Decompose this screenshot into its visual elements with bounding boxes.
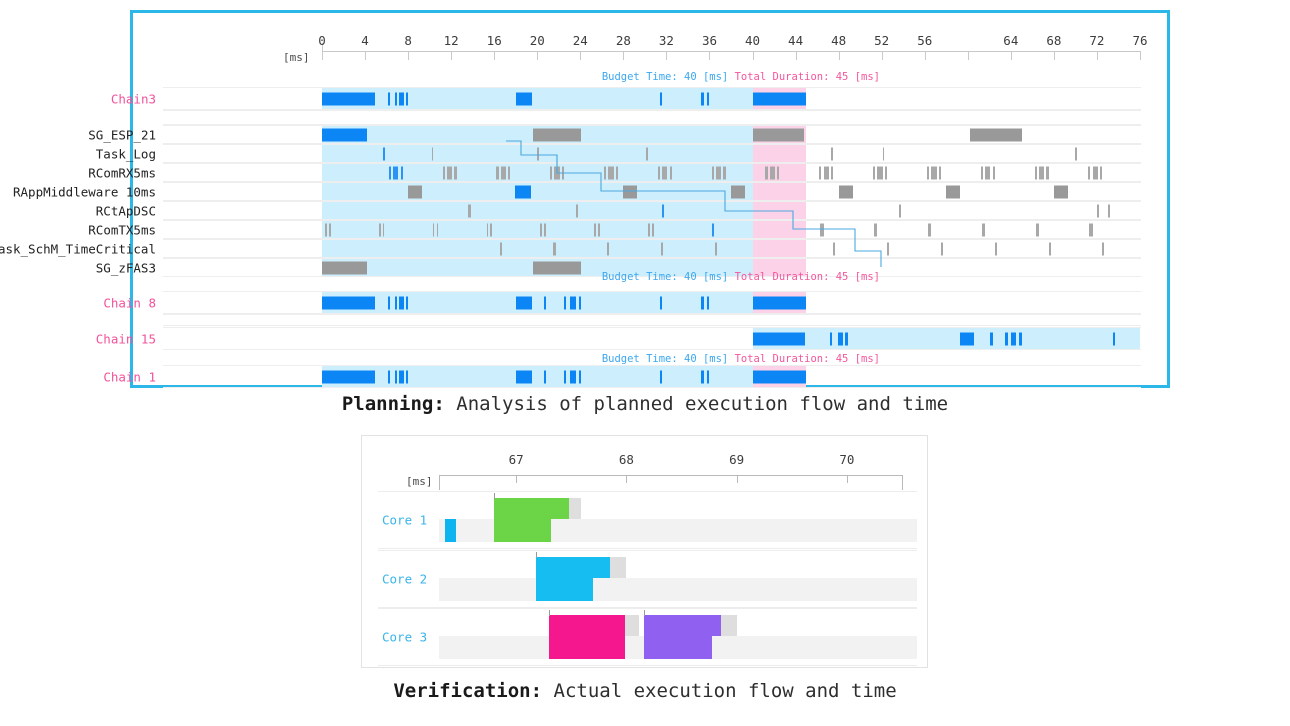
core-segment[interactable] — [569, 498, 582, 519]
planning-axis-tick-label: 28 — [616, 33, 631, 48]
gantt-bar[interactable] — [399, 92, 404, 105]
total-duration-label: Total Duration: 45 [ms] — [728, 353, 880, 365]
gantt-bar[interactable] — [490, 223, 492, 236]
screenshot-root: [ms] 04812162024283236404448525664687276… — [0, 0, 1290, 726]
planning-axis-tick-label: 64 — [1003, 33, 1018, 48]
planning-caption-bold: Planning: — [342, 393, 445, 415]
gantt-bar[interactable] — [604, 166, 606, 179]
verification-axis-line — [439, 475, 902, 476]
planning-axis-tick — [580, 51, 581, 60]
gantt-bar[interactable] — [533, 261, 581, 274]
gantt-bar[interactable] — [395, 92, 398, 105]
gantt-bar[interactable] — [576, 204, 578, 217]
task-row[interactable]: RCtApDSC — [163, 201, 1141, 220]
verification-axis-tick — [737, 475, 738, 483]
gantt-bar[interactable] — [1075, 147, 1077, 160]
gantt-bar[interactable] — [1113, 332, 1115, 345]
gantt-bar[interactable] — [833, 242, 835, 255]
gantt-bar[interactable] — [468, 204, 470, 217]
planning-axis-tick-label: 68 — [1046, 33, 1061, 48]
row-track — [322, 145, 1140, 162]
gantt-bar[interactable] — [544, 223, 546, 236]
core-planned-lane — [439, 615, 917, 636]
planning-axis-tick — [365, 51, 366, 60]
planning-time-axis: [ms] 04812162024283236404448525664687276 — [133, 13, 1167, 68]
chain-span-background — [322, 88, 753, 109]
gantt-bar[interactable] — [731, 185, 745, 198]
core-row[interactable]: Core 1 — [378, 491, 917, 549]
chain-row[interactable]: Chain3 — [163, 87, 1141, 110]
gantt-bar[interactable] — [877, 166, 882, 179]
planning-axis-tick — [666, 51, 667, 60]
gantt-bar[interactable] — [701, 296, 704, 309]
row-track — [322, 202, 1140, 219]
gantt-bar[interactable] — [887, 242, 889, 255]
task-row[interactable]: RComTX5ms — [163, 220, 1141, 239]
gantt-bar[interactable] — [927, 166, 929, 179]
gantt-bar[interactable] — [770, 166, 775, 179]
gantt-bar[interactable] — [939, 166, 941, 179]
gantt-bar[interactable] — [623, 185, 637, 198]
task-row-label: Task_SchM_TimeCritical — [0, 241, 163, 256]
core-segment[interactable] — [625, 615, 640, 636]
gantt-bar[interactable] — [723, 166, 725, 179]
segment-start-marker — [644, 610, 645, 616]
planning-axis-tick-label: 72 — [1089, 33, 1104, 48]
gantt-bar[interactable] — [432, 147, 434, 160]
gantt-bar[interactable] — [562, 166, 564, 179]
budget-time-label: Budget Time: 40 [ms] — [602, 271, 728, 283]
gantt-bar[interactable] — [873, 166, 875, 179]
gantt-bar[interactable] — [500, 242, 502, 255]
gantt-bar[interactable] — [579, 370, 581, 383]
verification-axis-tick-label: 69 — [729, 452, 744, 467]
gantt-bar[interactable] — [388, 92, 391, 105]
chain-span-background — [322, 202, 753, 219]
budget-annotation: Budget Time: 40 [ms] Total Duration: 45 … — [602, 71, 880, 83]
gantt-bar[interactable] — [982, 223, 985, 236]
gantt-bar[interactable] — [406, 92, 408, 105]
gantt-bar[interactable] — [701, 92, 704, 105]
gantt-bar[interactable] — [564, 370, 566, 383]
gantt-bar[interactable] — [533, 128, 581, 141]
row-track — [322, 292, 1140, 313]
gantt-bar[interactable] — [845, 332, 848, 345]
gantt-bar[interactable] — [399, 370, 404, 383]
gantt-bar[interactable] — [454, 166, 456, 179]
gantt-bar[interactable] — [995, 242, 997, 255]
planning-axis-tick-label: 32 — [659, 33, 674, 48]
gantt-bar[interactable] — [1036, 223, 1039, 236]
planning-axis-tick-label: 76 — [1132, 33, 1147, 48]
gantt-bar[interactable] — [516, 370, 532, 383]
total-duration-label: Total Duration: 45 [ms] — [728, 71, 880, 83]
gantt-bar[interactable] — [830, 332, 832, 345]
planning-axis-tick-label: 44 — [788, 33, 803, 48]
gantt-bar[interactable] — [1011, 332, 1016, 345]
gantt-bar[interactable] — [496, 166, 498, 179]
gantt-bar[interactable] — [662, 204, 664, 217]
gantt-bar[interactable] — [389, 166, 391, 179]
gantt-bar[interactable] — [322, 296, 375, 309]
gantt-bar[interactable] — [395, 370, 398, 383]
task-row[interactable]: RComRX5ms — [163, 163, 1141, 182]
verification-caption-text: Actual execution flow and time — [554, 680, 897, 702]
planning-axis-tick — [494, 51, 495, 60]
gantt-bar[interactable] — [831, 166, 833, 179]
gantt-bar[interactable] — [537, 147, 539, 160]
chain-span-background — [322, 292, 753, 313]
gantt-bar[interactable] — [433, 223, 435, 236]
segment-start-marker — [536, 552, 537, 558]
gantt-bar[interactable] — [1100, 166, 1102, 179]
gantt-bar[interactable] — [1054, 185, 1068, 198]
core-segment[interactable] — [445, 519, 456, 542]
gantt-bar[interactable] — [383, 223, 385, 236]
gantt-bar[interactable] — [707, 370, 709, 383]
gantt-bar[interactable] — [839, 185, 853, 198]
gantt-bar[interactable] — [322, 370, 375, 383]
gantt-bar[interactable] — [406, 296, 408, 309]
core-track — [439, 609, 917, 665]
task-row[interactable]: SG_ESP_21 — [163, 125, 1141, 144]
planning-caption: Planning: Analysis of planned execution … — [0, 393, 1290, 415]
gantt-bar[interactable] — [1005, 332, 1007, 345]
planning-axis-tick — [796, 51, 797, 60]
gantt-bar[interactable] — [928, 223, 931, 236]
planning-axis-tick-label: 8 — [404, 33, 412, 48]
core-actual-lane — [439, 519, 917, 542]
row-track — [322, 328, 1140, 349]
gantt-bar[interactable] — [408, 185, 422, 198]
chain-span-background — [322, 221, 753, 238]
task-row-label: RComTX5ms — [88, 222, 163, 237]
gantt-bar[interactable] — [660, 370, 662, 383]
planning-axis-tick-label: 24 — [573, 33, 588, 48]
budget-overrun-span — [753, 240, 807, 257]
planning-axis-tick — [1011, 51, 1012, 60]
gantt-bar[interactable] — [544, 296, 546, 309]
gantt-bar[interactable] — [553, 242, 555, 255]
gantt-bar[interactable] — [329, 223, 331, 236]
gantt-bar[interactable] — [516, 92, 532, 105]
gantt-bar[interactable] — [515, 185, 531, 198]
gantt-bar[interactable] — [1019, 332, 1021, 345]
verification-axis-tick-label: 67 — [509, 452, 524, 467]
gantt-bar[interactable] — [753, 370, 807, 383]
gantt-bar[interactable] — [661, 242, 663, 255]
gantt-bar[interactable] — [660, 92, 662, 105]
planning-axis-tick — [709, 51, 710, 60]
planning-axis-tick-label: 0 — [318, 33, 326, 48]
gantt-bar[interactable] — [379, 223, 381, 236]
core-segment[interactable] — [644, 636, 712, 659]
planning-axis-tick — [839, 51, 840, 60]
gantt-bar[interactable] — [819, 166, 821, 179]
gantt-bar[interactable] — [550, 166, 552, 179]
chain-span-background — [753, 328, 1140, 349]
gantt-bar[interactable] — [598, 223, 600, 236]
gantt-bar[interactable] — [516, 296, 532, 309]
row-spacer — [163, 314, 1141, 326]
planning-axis-tick — [753, 51, 754, 60]
gantt-bar[interactable] — [579, 296, 581, 309]
gantt-bar[interactable] — [594, 223, 596, 236]
gantt-bar[interactable] — [941, 242, 943, 255]
planning-axis-tick — [925, 51, 926, 60]
total-duration-label: Total Duration: 45 [ms] — [728, 271, 880, 283]
gantt-bar[interactable] — [838, 332, 843, 345]
task-row-label: RCtApDSC — [96, 203, 163, 218]
gantt-bar[interactable] — [820, 223, 823, 236]
row-track — [322, 88, 1140, 109]
verification-axis-unit-label: [ms] — [406, 475, 433, 488]
chain-row-label: Chain 1 — [103, 369, 163, 384]
gantt-bar[interactable] — [437, 223, 439, 236]
verification-caption-bold: Verification: — [393, 680, 542, 702]
task-row-label: RComRX5ms — [88, 165, 163, 180]
gantt-bar[interactable] — [765, 166, 767, 179]
chain-span-background — [322, 366, 753, 387]
planning-axis-tick — [882, 51, 883, 60]
gantt-bar[interactable] — [544, 370, 546, 383]
planning-caption-text: Analysis of planned execution flow and t… — [456, 393, 948, 415]
chain-span-background — [322, 240, 753, 257]
core-segment[interactable] — [721, 615, 737, 636]
gantt-bar[interactable] — [715, 242, 717, 255]
budget-annotation: Budget Time: 40 [ms] Total Duration: 45 … — [602, 271, 880, 283]
task-row-label: Task_Log — [96, 146, 163, 161]
verification-axis-tick — [847, 475, 848, 483]
gantt-bar[interactable] — [899, 204, 901, 217]
planning-axis-tick-label: 52 — [874, 33, 889, 48]
core-actual-lane — [439, 578, 917, 601]
core-track — [439, 551, 917, 607]
gantt-bar[interactable] — [1046, 166, 1048, 179]
planning-axis-tick — [408, 51, 409, 60]
gantt-bar[interactable] — [753, 92, 807, 105]
budget-overrun-span — [753, 164, 807, 181]
segment-start-marker — [549, 610, 550, 616]
gantt-bar[interactable] — [824, 166, 829, 179]
core-segment[interactable] — [644, 615, 721, 636]
core-actual-lane — [439, 636, 917, 659]
gantt-bar[interactable] — [985, 166, 990, 179]
gantt-bar[interactable] — [406, 370, 408, 383]
planning-axis-tick-label: 56 — [917, 33, 932, 48]
planning-axis-tick — [1140, 51, 1141, 60]
planning-axis-tick — [451, 51, 452, 60]
gantt-bar[interactable] — [946, 185, 960, 198]
gantt-bar[interactable] — [652, 223, 654, 236]
planning-axis-tick-label: 4 — [361, 33, 369, 48]
chain-row[interactable]: Chain 1 — [163, 365, 1141, 388]
gantt-bar[interactable] — [931, 166, 936, 179]
gantt-bar[interactable] — [564, 296, 566, 309]
gantt-bar[interactable] — [401, 166, 403, 179]
core-label: Core 2 — [382, 571, 427, 586]
planning-axis-tick — [1054, 51, 1055, 60]
segment-start-marker — [494, 493, 495, 499]
chain-row-label: Chain 15 — [96, 331, 163, 346]
gantt-bar[interactable] — [383, 147, 385, 160]
planning-axis-tick-label: 40 — [745, 33, 760, 48]
gantt-bar[interactable] — [707, 296, 709, 309]
gantt-bar[interactable] — [608, 166, 613, 179]
gantt-bar[interactable] — [1102, 242, 1104, 255]
verification-axis-tick-label: 70 — [839, 452, 854, 467]
gantt-bar[interactable] — [607, 242, 609, 255]
planning-axis-tick-label: 36 — [702, 33, 717, 48]
gantt-bar[interactable] — [993, 166, 995, 179]
core-segment[interactable] — [494, 498, 569, 519]
gantt-bar[interactable] — [616, 166, 618, 179]
row-track — [322, 240, 1140, 257]
verification-axis-tick — [626, 475, 627, 483]
gantt-bar[interactable] — [388, 370, 391, 383]
gantt-bar[interactable] — [322, 92, 375, 105]
verification-caption: Verification: Actual execution flow and … — [0, 680, 1290, 702]
gantt-bar[interactable] — [1108, 204, 1110, 217]
gantt-bar[interactable] — [447, 166, 452, 179]
gantt-bar[interactable] — [501, 166, 506, 179]
gantt-bar[interactable] — [701, 370, 704, 383]
gantt-bar[interactable] — [970, 128, 1022, 141]
budget-time-label: Budget Time: 40 [ms] — [602, 353, 728, 365]
verification-axis-tick-label: 68 — [619, 452, 634, 467]
gantt-bar[interactable] — [1097, 204, 1099, 217]
task-row[interactable]: Task_Log — [163, 144, 1141, 163]
gantt-bar[interactable] — [393, 166, 398, 179]
gantt-bar[interactable] — [712, 223, 714, 236]
core-segment[interactable] — [549, 615, 624, 636]
task-row[interactable]: RAppMiddleware 10ms — [163, 182, 1141, 201]
verification-axis-tick — [902, 475, 903, 490]
core-segment[interactable] — [536, 578, 593, 601]
planning-panel: [ms] 04812162024283236404448525664687276… — [130, 10, 1170, 388]
planning-axis-tick — [623, 51, 624, 60]
gantt-bar[interactable] — [981, 166, 983, 179]
core-row[interactable]: Core 3 — [378, 608, 917, 666]
budget-overrun-span — [753, 145, 807, 162]
gantt-bar[interactable] — [554, 166, 559, 179]
gantt-bar[interactable] — [1039, 166, 1044, 179]
verification-axis-tick — [439, 475, 440, 490]
core-segment[interactable] — [549, 636, 624, 659]
gantt-bar[interactable] — [1089, 223, 1092, 236]
gantt-bar[interactable] — [660, 296, 662, 309]
budget-overrun-span — [753, 221, 807, 238]
core-label: Core 3 — [382, 630, 427, 645]
task-row-label: RAppMiddleware 10ms — [13, 184, 163, 199]
gantt-bar[interactable] — [753, 296, 807, 309]
gantt-bar[interactable] — [322, 261, 367, 274]
core-planned-lane — [439, 557, 917, 578]
core-segment[interactable] — [610, 557, 626, 578]
gantt-bar[interactable] — [1088, 166, 1090, 179]
gantt-bar[interactable] — [777, 166, 779, 179]
planning-axis-tick — [1097, 51, 1098, 60]
gantt-bar[interactable] — [707, 92, 709, 105]
task-row-label: SG_zFAS3 — [96, 260, 163, 275]
gantt-bar[interactable] — [753, 128, 805, 141]
gantt-bar[interactable] — [508, 166, 510, 179]
planning-axis-tick — [537, 51, 538, 60]
gantt-bar[interactable] — [831, 147, 833, 160]
core-track — [439, 492, 917, 548]
planning-axis-tick-label: 12 — [444, 33, 459, 48]
gantt-bar[interactable] — [487, 223, 489, 236]
gantt-bar[interactable] — [399, 296, 404, 309]
verification-panel: [ms] 67686970 Core 1Core 2Core 3 — [361, 435, 928, 668]
gantt-bar[interactable] — [753, 332, 806, 345]
chain-span-background — [322, 183, 753, 200]
core-segment[interactable] — [494, 519, 551, 542]
task-row[interactable]: Task_SchM_TimeCritical — [163, 239, 1141, 258]
planning-axis-tick-label: 20 — [530, 33, 545, 48]
planning-axis-tick — [968, 51, 969, 60]
verification-axis-tick — [516, 475, 517, 483]
gantt-bar[interactable] — [395, 296, 398, 309]
row-spacer — [163, 110, 1141, 125]
gantt-bar[interactable] — [540, 223, 542, 236]
row-track — [322, 126, 1140, 143]
chain-row-label: Chain3 — [111, 91, 163, 106]
core-segment[interactable] — [536, 557, 610, 578]
row-track — [322, 164, 1140, 181]
chain-row-label: Chain 8 — [103, 295, 163, 310]
gantt-bar[interactable] — [443, 166, 445, 179]
gantt-bar[interactable] — [712, 166, 714, 179]
gantt-bar[interactable] — [570, 296, 576, 309]
planning-axis-line — [322, 51, 1140, 52]
row-track — [322, 366, 1140, 387]
core-planned-lane — [439, 498, 917, 519]
planning-axis-tick-label: 48 — [831, 33, 846, 48]
gantt-bar[interactable] — [716, 166, 721, 179]
gantt-bar[interactable] — [388, 296, 391, 309]
core-row[interactable]: Core 2 — [378, 550, 917, 608]
chain-row[interactable]: Chain 8 — [163, 291, 1141, 314]
planning-axis-unit-label: [ms] — [283, 51, 310, 64]
task-row-label: SG_ESP_21 — [88, 127, 163, 142]
chain-span-background — [322, 164, 753, 181]
gantt-bar[interactable] — [990, 332, 992, 345]
core-label: Core 1 — [382, 513, 427, 528]
gantt-bar[interactable] — [874, 223, 877, 236]
gantt-bar[interactable] — [325, 223, 327, 236]
budget-time-label: Budget Time: 40 [ms] — [602, 71, 728, 83]
gantt-bar[interactable] — [960, 332, 974, 345]
row-track — [322, 221, 1140, 238]
chain-row[interactable]: Chain 15 — [163, 327, 1141, 350]
gantt-bar[interactable] — [1049, 242, 1051, 255]
gantt-bar[interactable] — [1035, 166, 1037, 179]
gantt-bar[interactable] — [570, 370, 576, 383]
gantt-bar[interactable] — [648, 223, 650, 236]
budget-overrun-span — [753, 202, 807, 219]
gantt-bar[interactable] — [883, 147, 885, 160]
gantt-bar[interactable] — [885, 166, 887, 179]
planning-axis-tick-label: 16 — [487, 33, 502, 48]
budget-overrun-span — [753, 183, 807, 200]
gantt-bar[interactable] — [658, 166, 660, 179]
gantt-bar[interactable] — [662, 166, 667, 179]
gantt-bar[interactable] — [670, 166, 672, 179]
gantt-bar[interactable] — [646, 147, 648, 160]
gantt-bar[interactable] — [1093, 166, 1098, 179]
gantt-bar[interactable] — [322, 128, 367, 141]
